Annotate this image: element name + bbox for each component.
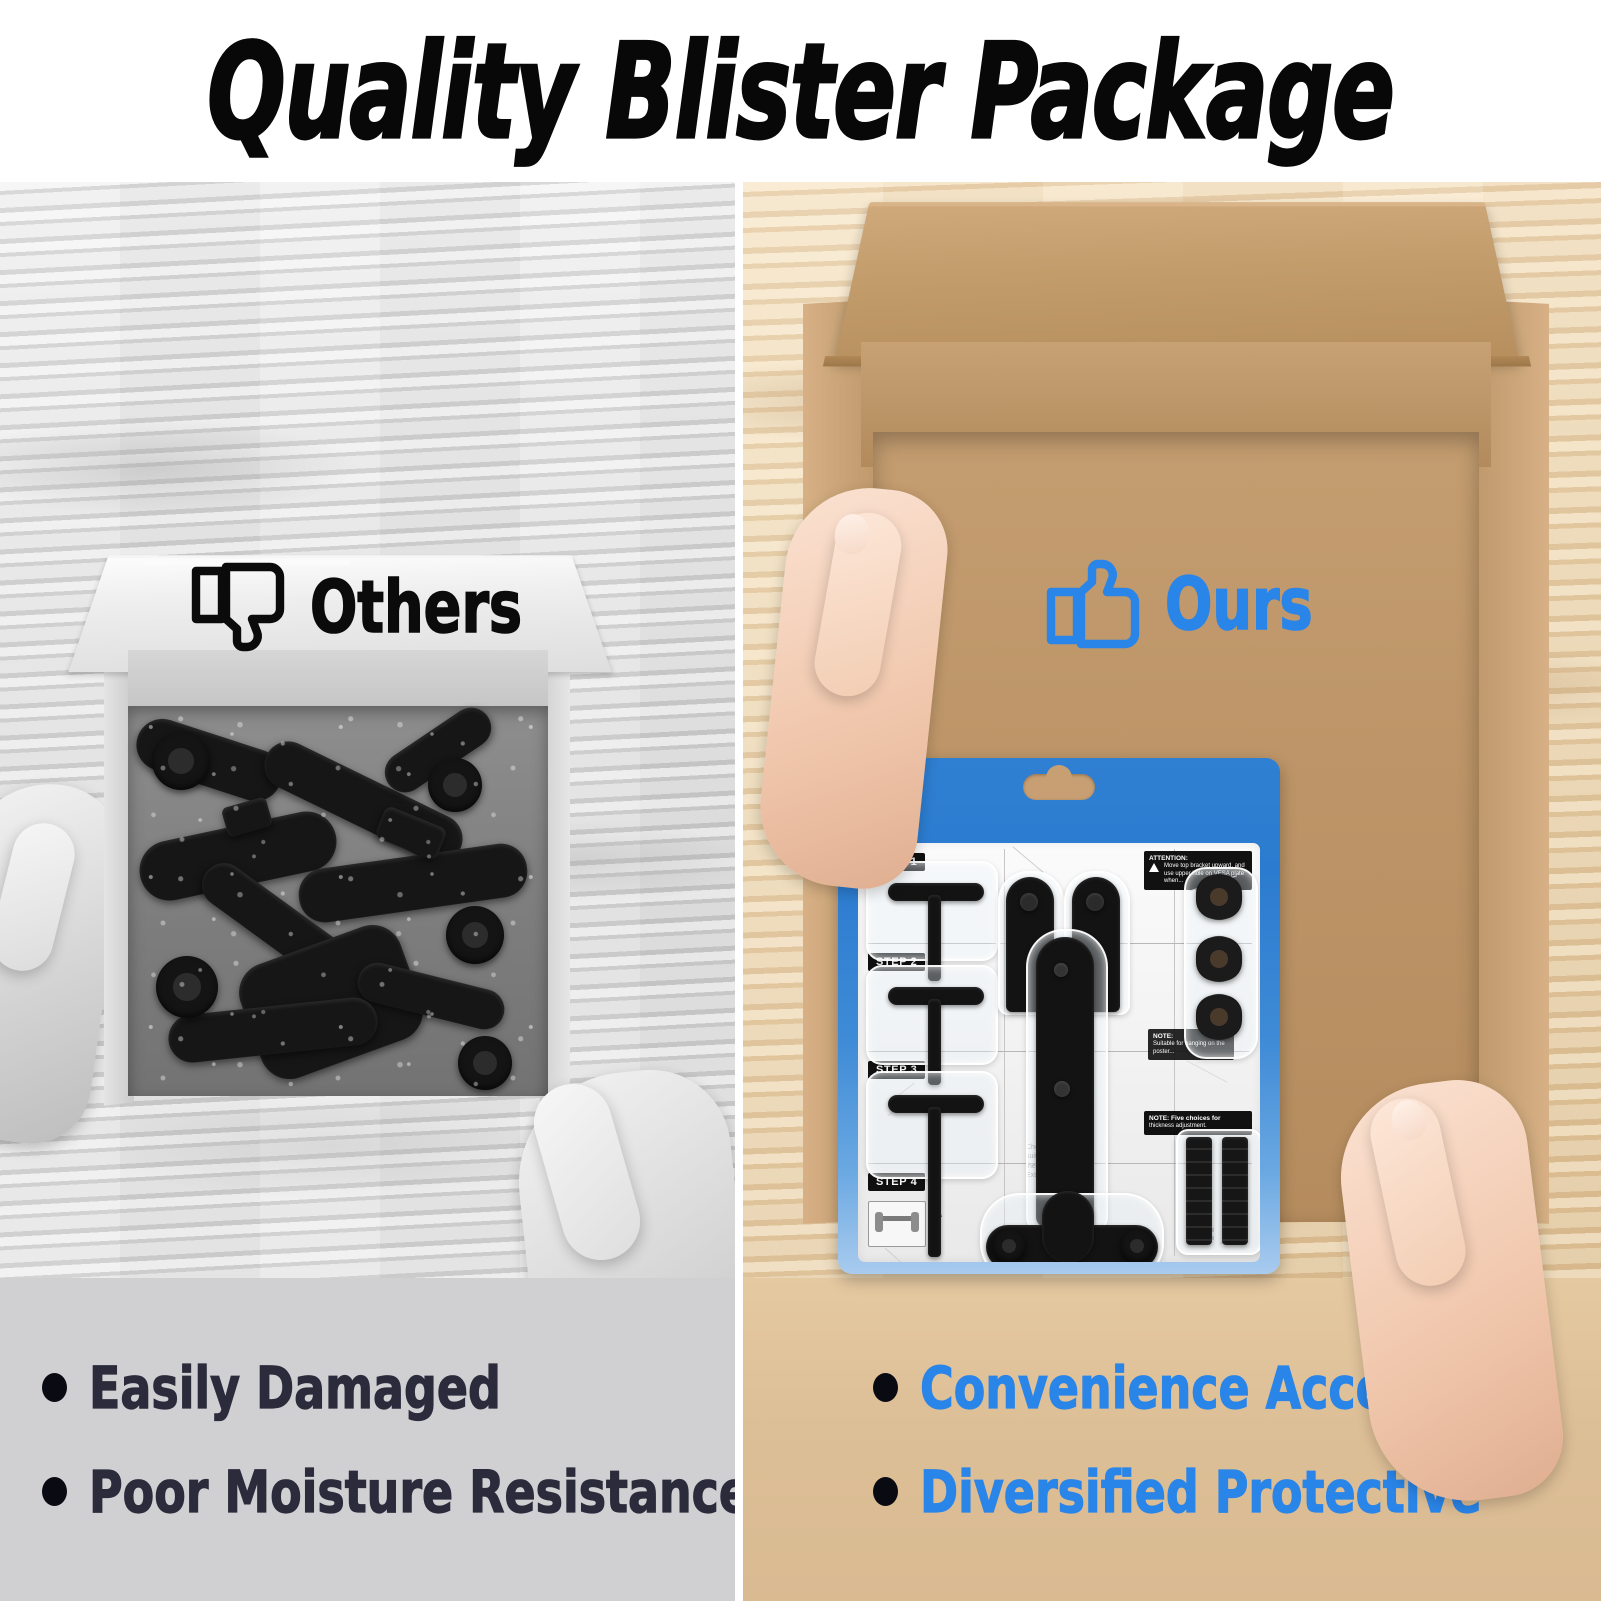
t-wrench-shaft bbox=[928, 1107, 941, 1257]
knob-part bbox=[156, 956, 218, 1018]
bullet-dot-icon bbox=[42, 1477, 67, 1506]
tripod-center-pad bbox=[1042, 1191, 1094, 1262]
thumbs-down-icon bbox=[190, 557, 294, 657]
panel-divider bbox=[735, 182, 743, 1601]
spacer-stack bbox=[1186, 1137, 1212, 1245]
header-banner: Quality Blister Package bbox=[0, 0, 1601, 182]
box-lid bbox=[835, 202, 1519, 360]
thickness-note-title: NOTE: Five choices for bbox=[1149, 1115, 1247, 1123]
bullet-dot-icon bbox=[873, 1373, 898, 1402]
list-item: Poor Moisture Resistance bbox=[0, 1463, 735, 1521]
knob-part bbox=[428, 758, 482, 812]
bracket-hole bbox=[1086, 893, 1104, 911]
others-scene-photo bbox=[0, 182, 735, 1278]
bullet-label: Poor Moisture Resistance bbox=[89, 1463, 750, 1521]
others-bullet-list: Easily Damaged Poor Moisture Resistance bbox=[0, 1278, 735, 1601]
box-interior-grey bbox=[128, 706, 548, 1096]
knob-part bbox=[152, 732, 210, 790]
page-title: Quality Blister Package bbox=[207, 26, 1394, 157]
infographic-page: Quality Blister Package bbox=[0, 0, 1601, 1601]
hang-hole bbox=[1023, 774, 1095, 800]
warning-triangle-icon bbox=[1149, 863, 1159, 872]
thumb-knob bbox=[1196, 937, 1242, 981]
thumb-knob bbox=[1196, 995, 1242, 1039]
others-badge-label: Others bbox=[310, 571, 522, 643]
knob-part bbox=[458, 1036, 512, 1090]
others-footer: Easily Damaged Poor Moisture Resistance bbox=[0, 1278, 735, 1601]
knob-part bbox=[446, 906, 504, 964]
others-badge: Others bbox=[190, 557, 557, 657]
base-foot bbox=[1120, 1229, 1154, 1262]
bullet-dot-icon bbox=[42, 1373, 67, 1402]
step4-pictogram bbox=[868, 1201, 926, 1247]
base-foot bbox=[992, 1229, 1026, 1262]
instruction-insert: STEP 1 STEP 2 STEP 3 STEP 4 ATTENTION: bbox=[858, 843, 1260, 1262]
thumb-knob bbox=[1196, 875, 1242, 919]
list-item: Easily Damaged bbox=[0, 1359, 735, 1417]
attention-note-title: ATTENTION: bbox=[1149, 855, 1247, 863]
damaged-box bbox=[128, 662, 548, 1092]
arm-hole bbox=[1054, 1081, 1070, 1097]
spacer-stack bbox=[1222, 1137, 1248, 1245]
bracket-hole bbox=[1020, 893, 1038, 911]
ours-badge-label: Ours bbox=[1165, 568, 1313, 640]
bullet-dot-icon bbox=[873, 1477, 898, 1506]
thumbs-up-icon bbox=[1045, 554, 1149, 654]
ours-badge: Ours bbox=[1045, 554, 1337, 654]
arm-hole bbox=[1054, 963, 1068, 977]
bullet-label: Easily Damaged bbox=[89, 1359, 501, 1417]
